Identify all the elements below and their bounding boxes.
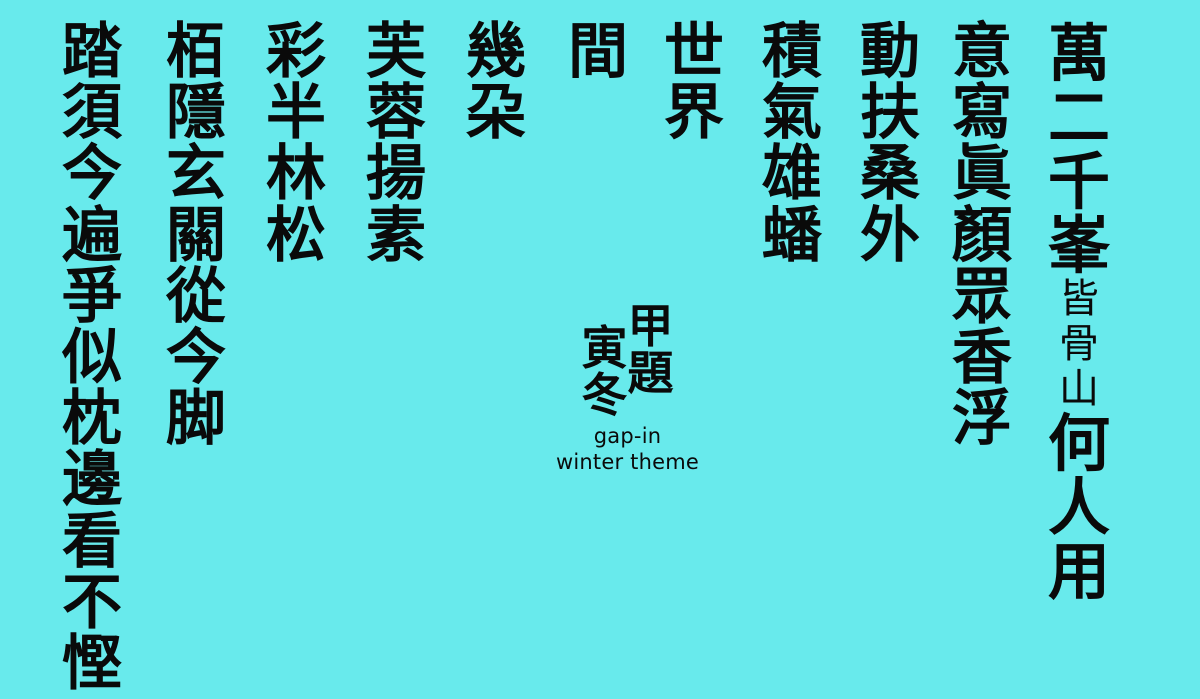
poem-glyph: 幾 [466, 22, 526, 83]
poem-glyph: 隱 [166, 83, 226, 144]
poem-column: 積氣雄蟠 [762, 22, 822, 267]
poem-glyph: 彩 [266, 22, 326, 83]
poem-glyph: 外 [860, 206, 920, 267]
poem-glyph: 間 [568, 22, 628, 83]
poem-glyph: 桑 [860, 144, 920, 205]
colophon-glyph: 題 [628, 350, 674, 397]
poem-glyph: 遍 [62, 206, 122, 267]
poem-glyph: 眞 [952, 144, 1012, 205]
poem-glyph: 蓉 [366, 83, 426, 144]
poem-glyph: 人 [1048, 476, 1110, 540]
poem-glyph: 二 [1048, 86, 1110, 150]
poem-glyph: 雄 [762, 144, 822, 205]
poem-glyph: 浮 [952, 389, 1012, 450]
poem-glyph: 峯 [1048, 214, 1110, 278]
poem-glyph: 意 [952, 22, 1012, 83]
poem-glyph: 須 [62, 83, 122, 144]
poem-glyph: 萬 [1048, 22, 1110, 86]
poem-glyph: 香 [952, 328, 1012, 389]
colophon-latin-block: gap-in winter theme [556, 423, 699, 476]
poem-glyph: 栢 [166, 22, 226, 83]
colophon-glyph: 寅 [582, 325, 628, 372]
poem-glyph: 不 [62, 573, 122, 634]
poem-glyph: 千 [1048, 150, 1110, 214]
poem-glyph: 氣 [762, 83, 822, 144]
poem-glyph: 扶 [860, 83, 920, 144]
poem-glyph: 山 [1059, 367, 1099, 412]
poem-column: 踏須今遍爭似枕邊看不慳 [62, 22, 122, 695]
artwork-canvas: 萬二千峯皆骨山何人用意寫眞顏眾香浮動扶桑外積氣雄蟠世界間幾朶芙蓉揚素彩半林松栢隱… [0, 0, 1200, 567]
poem-glyph: 芙 [366, 22, 426, 83]
poem-glyph: 從 [166, 267, 226, 328]
colophon-glyph: 甲 [628, 303, 674, 350]
colophon-latin-line-1: gap-in [556, 423, 699, 449]
poem-column: 間 [568, 22, 628, 83]
poem-glyph: 邊 [62, 450, 122, 511]
poem-glyph: 眾 [952, 267, 1012, 328]
poem-glyph: 枕 [62, 389, 122, 450]
poem-glyph: 玄 [166, 144, 226, 205]
poem-glyph: 界 [664, 83, 724, 144]
poem-glyph: 松 [266, 206, 326, 267]
poem-glyph: 皆 [1059, 277, 1099, 322]
poem-column: 意寫眞顏眾香浮 [952, 22, 1012, 450]
poem-glyph: 關 [166, 206, 226, 267]
colophon-latin-line-2: winter theme [556, 449, 699, 475]
colophon-column-right: 甲題 [628, 303, 674, 397]
poem-column: 彩半林松 [266, 22, 326, 267]
poem-glyph: 用 [1048, 540, 1110, 604]
poem-column: 芙蓉揚素 [366, 22, 426, 267]
poem-glyph: 脚 [166, 389, 226, 450]
poem-glyph: 何 [1048, 412, 1110, 476]
poem-glyph: 林 [266, 144, 326, 205]
poem-glyph: 踏 [62, 22, 122, 83]
poem-column: 萬二千峯皆骨山何人用 [1048, 22, 1110, 603]
poem-glyph: 寫 [952, 83, 1012, 144]
poem-glyph: 顏 [952, 206, 1012, 267]
poem-column: 動扶桑外 [860, 22, 920, 267]
poem-glyph: 世 [664, 22, 724, 83]
poem-glyph: 今 [62, 144, 122, 205]
colophon-columns: 甲題 寅冬 [582, 303, 674, 419]
poem-glyph: 朶 [466, 83, 526, 144]
poem-glyph: 素 [366, 206, 426, 267]
poem-column: 幾朶 [466, 22, 526, 144]
poem-glyph: 爭 [62, 267, 122, 328]
poem-glyph: 看 [62, 512, 122, 573]
poem-column: 栢隱玄關從今脚 [166, 22, 226, 450]
poem-glyph: 似 [62, 328, 122, 389]
poem-glyph: 骨 [1059, 322, 1099, 367]
poem-glyph: 蟠 [762, 206, 822, 267]
poem-glyph: 積 [762, 22, 822, 83]
colophon-column-left: 寅冬 [582, 325, 628, 419]
colophon-glyph: 冬 [582, 372, 628, 419]
poem-glyph: 慳 [62, 634, 122, 695]
poem-glyph: 動 [860, 22, 920, 83]
poem-glyph: 今 [166, 328, 226, 389]
poem-glyph: 半 [266, 83, 326, 144]
poem-glyph: 揚 [366, 144, 426, 205]
colophon-block: 甲題 寅冬 gap-in winter theme [556, 303, 699, 475]
poem-column: 世界 [664, 22, 724, 144]
